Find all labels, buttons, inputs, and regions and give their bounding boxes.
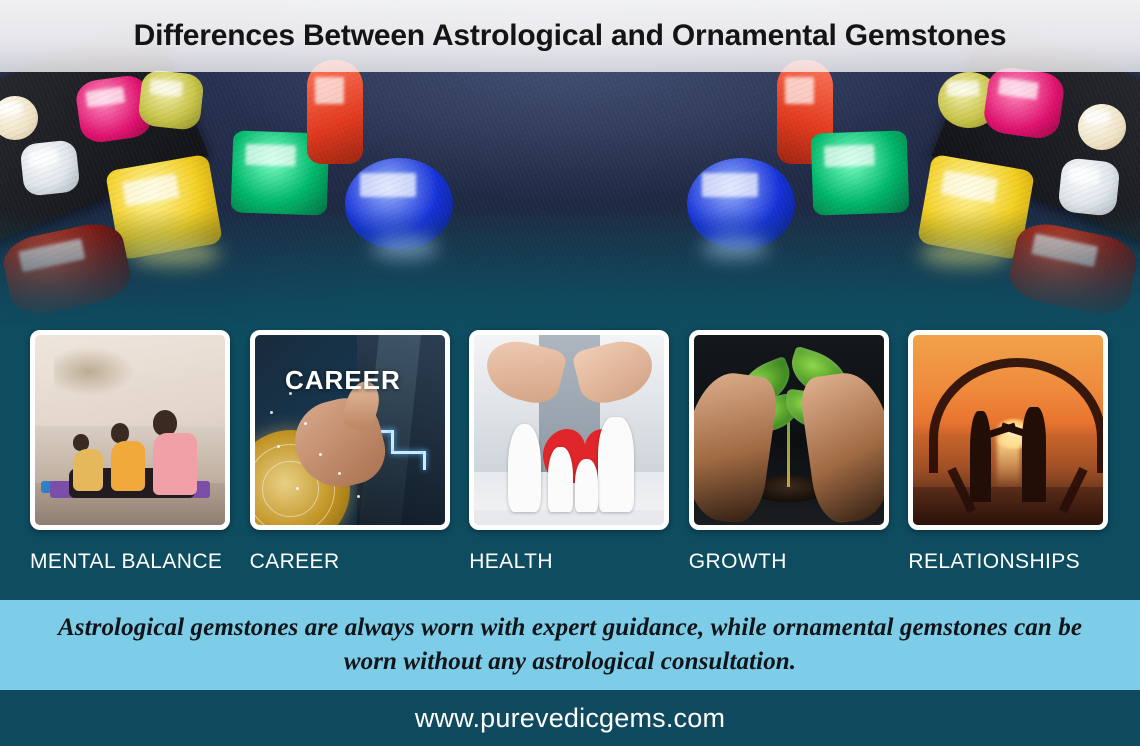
cupped-hand-right (798, 368, 884, 525)
website-url[interactable]: www.purevedicgems.com (415, 703, 725, 734)
gem-pearl-right (1078, 104, 1126, 150)
gem-pink-sapphire (74, 73, 154, 144)
gem-red-coral-right (777, 60, 833, 164)
gem-yellow-cats-eye-left (137, 69, 205, 131)
paper-figure-father (598, 417, 634, 512)
benefit-label-relationships: RELATIONSHIPS (908, 550, 1080, 574)
silhouette-man (1022, 407, 1047, 502)
gem-white-diamond-right (1057, 157, 1120, 217)
relationships-image (913, 335, 1103, 525)
benefit-card-relationships[interactable]: RELATIONSHIPS (908, 330, 1116, 574)
growth-image (694, 335, 884, 525)
footer-bar: www.purevedicgems.com (0, 690, 1140, 746)
meditation-image (35, 335, 225, 525)
gem-pearl-left (0, 96, 38, 140)
benefit-card-growth[interactable]: GROWTH (689, 330, 897, 574)
paper-figure-mother (508, 424, 540, 511)
paper-figure-girl (575, 459, 598, 512)
benefit-label-mental-balance: MENTAL BALANCE (30, 550, 222, 574)
quote-banner: Astrological gemstones are always worn w… (0, 600, 1140, 690)
gem-white-diamond-left (19, 139, 80, 197)
header-bar: Differences Between Astrological and Orn… (0, 0, 1140, 72)
gem-cats-eye-right (938, 72, 1000, 128)
thumbnail-frame (469, 330, 669, 530)
benefit-label-growth: GROWTH (689, 550, 787, 574)
benefits-card-strip: MENTAL BALANCE (0, 330, 1140, 600)
thumbnail-frame (908, 330, 1108, 530)
photo-bottom-fade (0, 210, 1140, 330)
page-title: Differences Between Astrological and Orn… (134, 19, 1007, 53)
gem-pink-ruby-right (982, 65, 1066, 141)
gem-red-coral-left (307, 60, 363, 164)
person-one (73, 434, 103, 491)
thumbnail-frame (689, 330, 889, 530)
infographic-poster: Differences Between Astrological and Orn… (0, 0, 1140, 746)
benefit-label-career: CAREER (250, 550, 340, 574)
cupped-hand-left (694, 368, 780, 525)
heart-shape-arc (929, 358, 1104, 473)
paper-figure-boy (548, 447, 573, 512)
quote-text: Astrological gemstones are always worn w… (40, 611, 1100, 679)
benefit-label-health: HEALTH (469, 550, 553, 574)
person-two (111, 423, 145, 491)
thumbnail-frame (30, 330, 230, 530)
benefit-card-health[interactable]: HEALTH (469, 330, 677, 574)
table-surface (474, 510, 664, 525)
person-three (153, 410, 197, 495)
career-overlay-text: CAREER (285, 365, 401, 396)
gem-emerald-left (231, 130, 330, 215)
thumbnail-frame: CAREER (250, 330, 450, 530)
health-image (474, 335, 664, 525)
tree-blur (54, 343, 141, 400)
silhouette-woman (970, 411, 991, 502)
benefit-card-mental-balance[interactable]: MENTAL BALANCE (30, 330, 238, 574)
gem-emerald-right (811, 130, 910, 215)
career-image: CAREER (255, 335, 445, 525)
benefit-card-career[interactable]: CAREER CAREER (250, 330, 458, 574)
